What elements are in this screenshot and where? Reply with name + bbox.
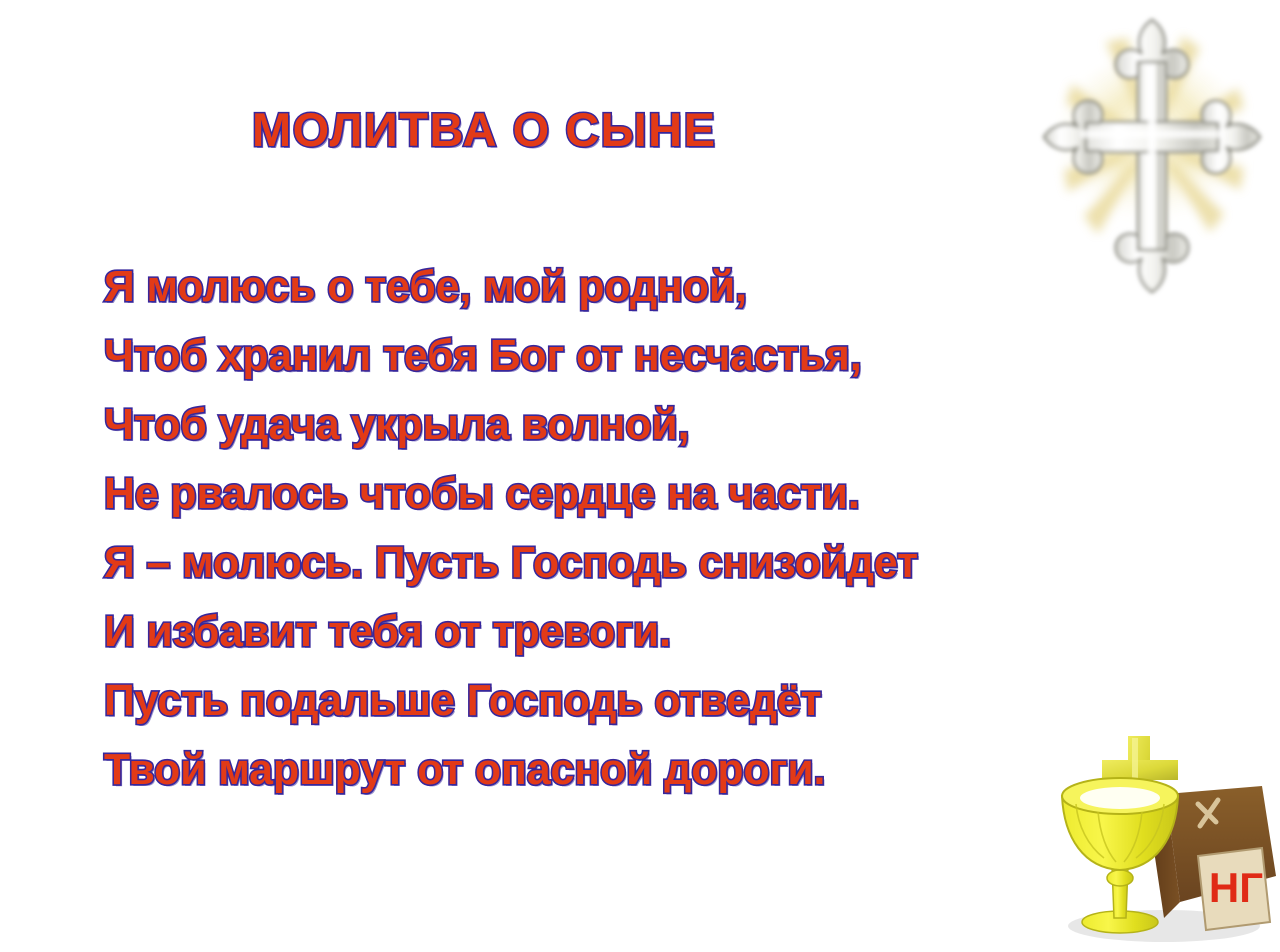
poem-line: Я молюсь о тебе, мой родной,	[104, 252, 1190, 321]
poem-line: Не рвалось чтобы сердце на части.	[104, 459, 1190, 528]
poem-line: Чтоб удача укрыла волной,	[104, 390, 1190, 459]
bread-label: НГ	[1209, 864, 1263, 911]
page-title: МОЛИТВА О СЫНЕ	[252, 106, 716, 153]
poem-body: Я молюсь о тебе, мой родной, Чтоб хранил…	[104, 252, 1224, 804]
slide-canvas: МОЛИТВА О СЫНЕ Я молюсь о тебе, мой родн…	[0, 0, 1280, 952]
poem-line: Я – молюсь. Пусть Господь снизойдет	[104, 528, 1190, 597]
poem-line: Пусть подальше Господь отведёт	[104, 666, 1190, 735]
bread-loaf: НГ	[1148, 786, 1276, 930]
poem-line: И избавит тебя от тревоги.	[104, 597, 1190, 666]
poem-line: Чтоб хранил тебя Бог от несчастья,	[104, 321, 1190, 390]
poem-line: Твой маршрут от опасной дороги.	[104, 735, 1190, 804]
